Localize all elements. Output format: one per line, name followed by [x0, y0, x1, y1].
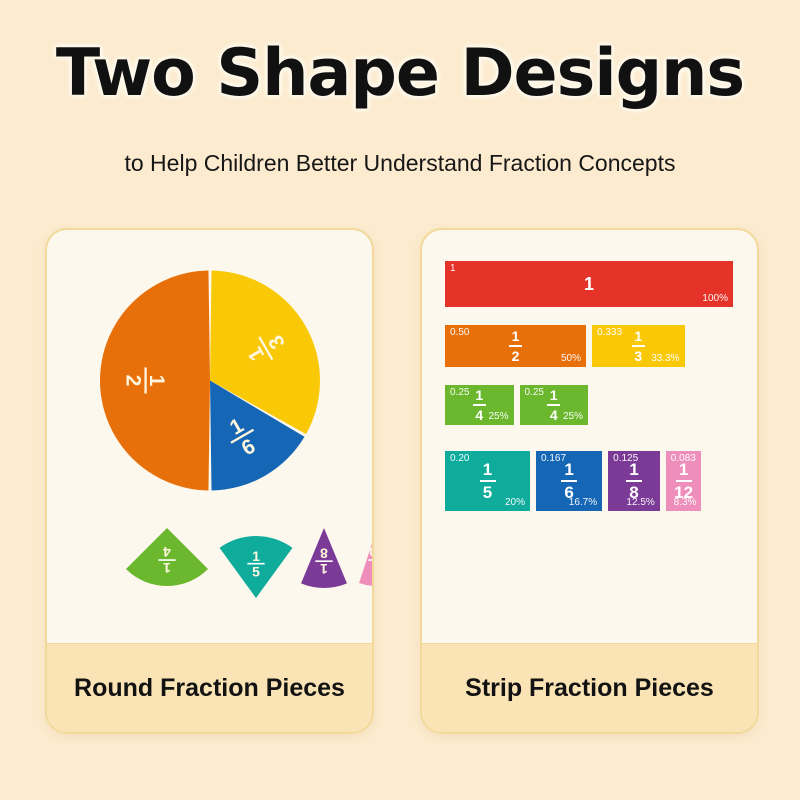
- fraction-block[interactable]: 0.1671616.7%: [535, 450, 603, 512]
- block-percent: 25%: [563, 412, 583, 422]
- block-fraction: 15: [480, 461, 496, 501]
- fraction-block[interactable]: 0.501250%: [444, 324, 587, 368]
- strip-row: 0.501250%0.3331333.3%: [444, 324, 686, 368]
- svg-text:10: 10: [369, 544, 374, 560]
- strip-card-label: Strip Fraction Pieces: [465, 674, 714, 703]
- round-card-footer: Round Fraction Pieces: [47, 643, 372, 732]
- fraction-block[interactable]: 0.3331333.3%: [591, 324, 686, 368]
- svg-text:8: 8: [320, 545, 328, 561]
- fraction-numerator: 1: [584, 275, 594, 294]
- block-decimal: 0.333: [597, 328, 622, 338]
- wedge-piece[interactable]: 15: [215, 522, 297, 602]
- block-fraction: 14: [547, 388, 560, 422]
- fraction-denominator: 4: [550, 407, 558, 422]
- svg-text:1: 1: [163, 560, 171, 576]
- block-fraction: 112: [674, 461, 693, 501]
- svg-text:1: 1: [252, 548, 260, 564]
- round-wedge-row: 14 15 18 110: [47, 522, 372, 602]
- block-decimal: 0.25: [450, 388, 469, 398]
- block-fraction: 13: [632, 329, 645, 363]
- fraction-denominator: 4: [475, 407, 483, 422]
- fraction-bar: [561, 480, 577, 482]
- fraction-block[interactable]: 0.251425%: [519, 384, 590, 426]
- block-decimal: 0.083: [671, 454, 696, 464]
- fraction-numerator: 1: [483, 461, 492, 479]
- svg-text:4: 4: [163, 544, 171, 560]
- round-card-body: 131612 14 15 18 110: [47, 230, 372, 644]
- svg-text:1: 1: [144, 375, 167, 387]
- poster-root: Two Shape Designs to Help Children Bette…: [0, 0, 800, 800]
- strip-card-footer: Strip Fraction Pieces: [422, 643, 757, 732]
- block-decimal: 0.125: [613, 454, 638, 464]
- strip-stack: 11100%0.501250%0.3331333.3%0.251425%0.25…: [444, 252, 735, 638]
- block-fraction: 18: [626, 461, 642, 501]
- fraction-bar: [547, 404, 560, 406]
- block-decimal: 0.167: [541, 454, 566, 464]
- page-title: Two Shape Designs: [0, 36, 800, 111]
- fraction-denominator: 5: [483, 483, 492, 501]
- fraction-numerator: 1: [634, 329, 642, 344]
- fraction-denominator: 2: [512, 348, 520, 363]
- block-percent: 33.3%: [651, 354, 679, 364]
- svg-text:1: 1: [320, 561, 328, 577]
- fraction-bar: [632, 345, 645, 347]
- block-decimal: 0.25: [525, 388, 544, 398]
- block-decimal: 0.20: [450, 454, 469, 464]
- card-strip-fraction-pieces[interactable]: 11100%0.501250%0.3331333.3%0.251425%0.25…: [420, 228, 759, 734]
- block-decimal: 0.50: [450, 328, 469, 338]
- fraction-block[interactable]: 11100%: [444, 260, 734, 308]
- fraction-bar: [676, 480, 692, 482]
- fraction-numerator: 1: [550, 388, 558, 403]
- fraction-block[interactable]: 0.201520%: [444, 450, 531, 512]
- block-percent: 100%: [702, 294, 728, 304]
- fraction-bar: [480, 480, 496, 482]
- strip-row: 0.201520%0.1671616.7%0.1251812.5%0.08311…: [444, 450, 702, 512]
- fraction-numerator: 1: [475, 388, 483, 403]
- fraction-bar: [626, 480, 642, 482]
- fraction-block[interactable]: 0.251425%: [444, 384, 515, 426]
- block-percent: 50%: [561, 354, 581, 364]
- block-percent: 16.7%: [569, 498, 597, 508]
- block-percent: 20%: [505, 498, 525, 508]
- svg-text:1: 1: [373, 560, 374, 576]
- block-fraction: 12: [509, 329, 522, 363]
- pie-chart: 131612: [97, 268, 322, 493]
- fraction-block[interactable]: 0.0831128.3%: [665, 450, 703, 512]
- fraction-numerator: 1: [512, 329, 520, 344]
- pie-chart-svg: 131612: [97, 268, 322, 493]
- fraction-bar: [473, 404, 486, 406]
- strip-card-body: 11100%0.501250%0.3331333.3%0.251425%0.25…: [422, 230, 757, 644]
- svg-text:5: 5: [252, 564, 260, 580]
- block-fraction: 14: [473, 388, 486, 422]
- block-percent: 12.5%: [626, 498, 654, 508]
- card-round-fraction-pieces[interactable]: 131612 14 15 18 110 Round Fraction Piece…: [45, 228, 374, 734]
- block-percent: 8.3%: [674, 498, 697, 508]
- wedge-piece[interactable]: 14: [119, 522, 215, 602]
- strip-row: 0.251425%0.251425%: [444, 384, 589, 426]
- fraction-bar: [509, 345, 522, 347]
- block-fraction: 1: [584, 275, 594, 294]
- svg-text:2: 2: [121, 375, 144, 387]
- block-percent: 25%: [488, 412, 508, 422]
- wedge-piece[interactable]: 110: [353, 522, 374, 602]
- round-card-label: Round Fraction Pieces: [74, 674, 345, 703]
- wedge-piece[interactable]: 18: [294, 522, 354, 602]
- strip-row: 11100%: [444, 260, 734, 308]
- block-fraction: 16: [561, 461, 577, 501]
- fraction-block[interactable]: 0.1251812.5%: [607, 450, 661, 512]
- fraction-denominator: 3: [634, 348, 642, 363]
- block-decimal: 1: [450, 264, 456, 274]
- page-subtitle: to Help Children Better Understand Fract…: [0, 150, 800, 177]
